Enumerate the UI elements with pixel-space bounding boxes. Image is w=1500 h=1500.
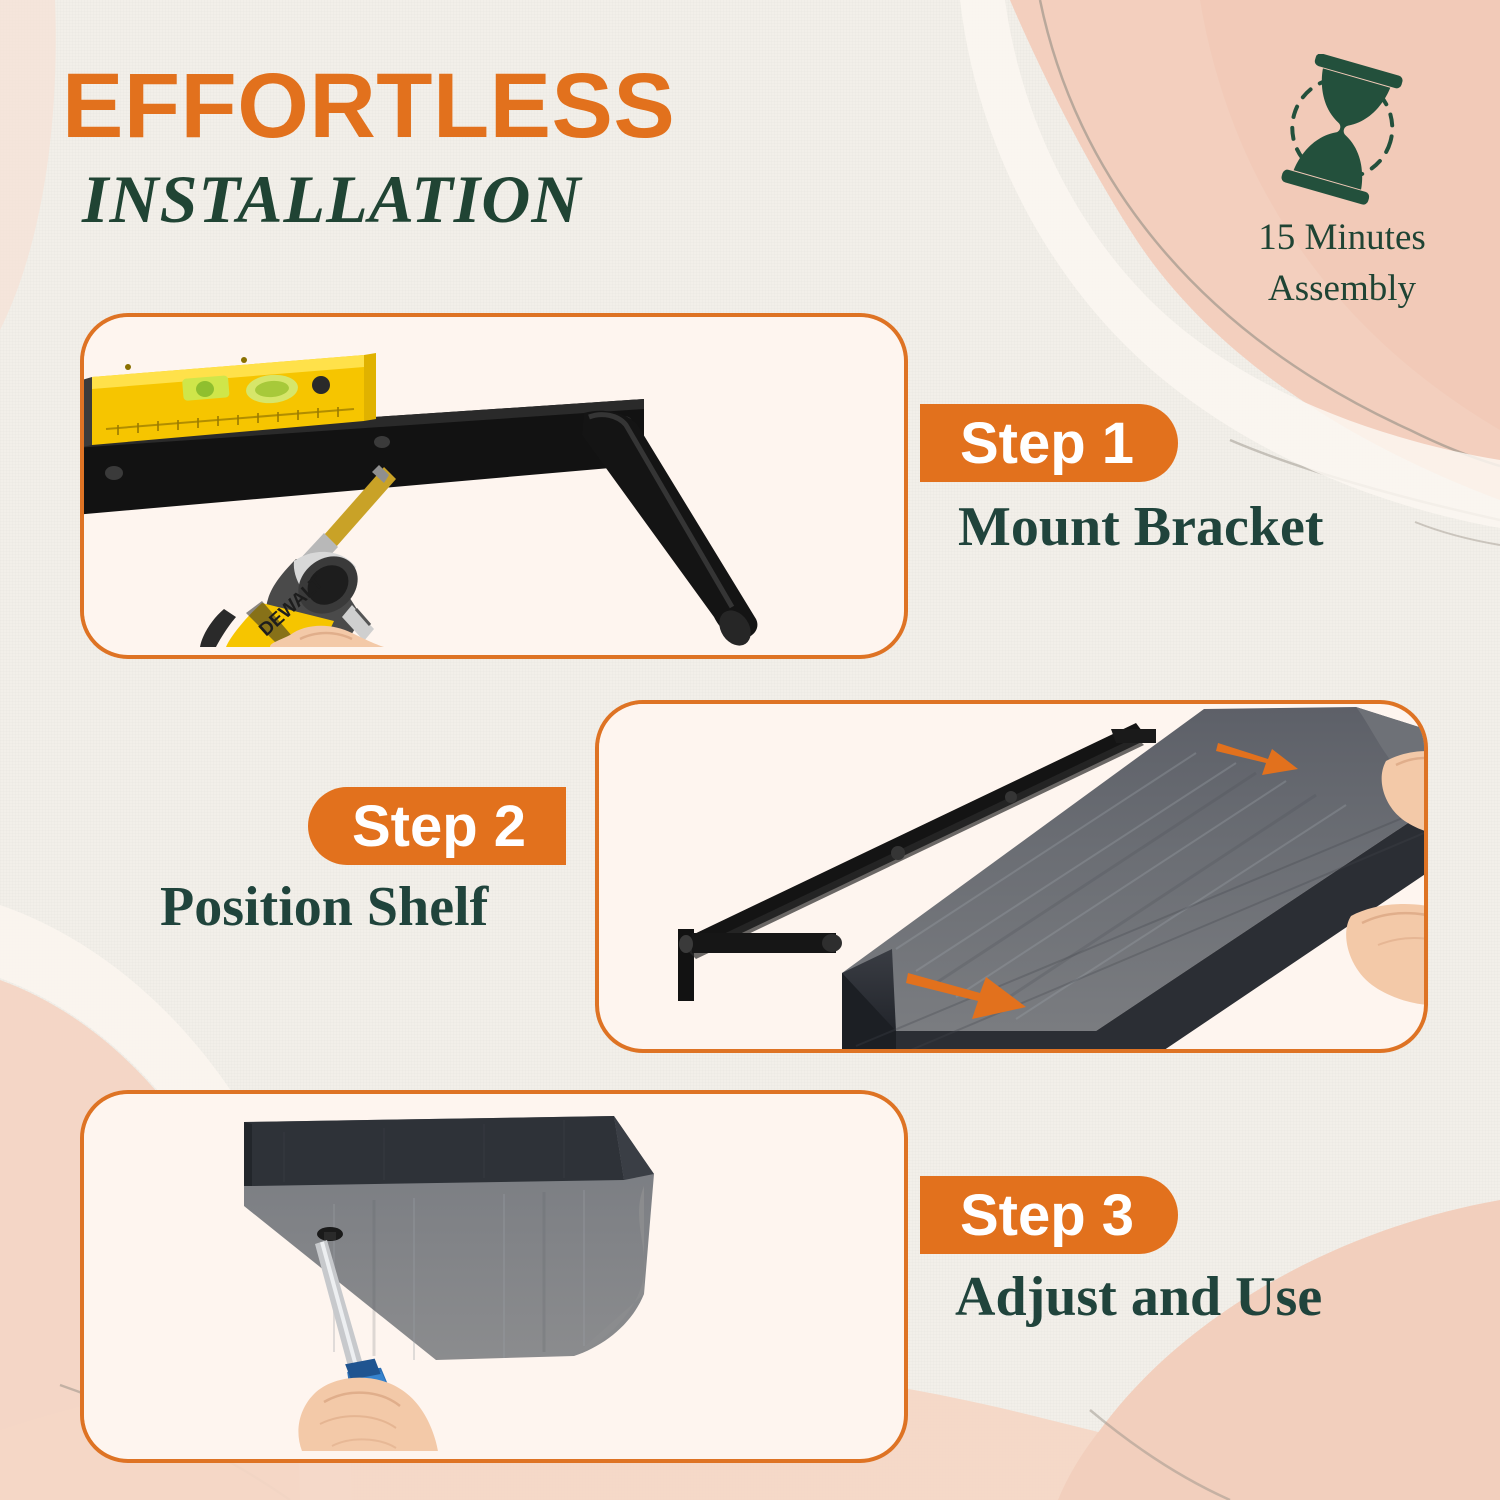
step-2-badge: Step 2: [308, 787, 566, 865]
step-3-badge: Step 3: [920, 1176, 1178, 1254]
assembly-time-badge: 15 Minutes Assembly: [1214, 54, 1470, 311]
hourglass-icon: [1267, 54, 1417, 209]
assembly-badge-line-1: 15 Minutes: [1214, 215, 1470, 260]
assembly-badge-line-2: Assembly: [1214, 266, 1470, 311]
step-2-badge-label: Step 2: [352, 793, 526, 860]
set-screw: [317, 1227, 343, 1241]
headline-line-1: EFFORTLESS: [62, 58, 675, 154]
blob-left-top: [0, 0, 56, 330]
page-title: EFFORTLESS INSTALLATION: [62, 58, 675, 240]
step-3-photo: [84, 1094, 896, 1451]
step-3-label: Adjust and Use: [955, 1265, 1322, 1329]
headline-line-2: INSTALLATION: [82, 158, 675, 240]
thin-curve-right-mid: [1415, 522, 1500, 545]
step-3-image-card: [80, 1090, 908, 1463]
step-2-label: Position Shelf: [160, 875, 488, 939]
step-1-label: Mount Bracket: [958, 495, 1324, 559]
step-1-badge-label: Step 1: [960, 410, 1134, 477]
step-1-badge: Step 1: [920, 404, 1178, 482]
step-2-photo: [596, 701, 1421, 1046]
step-1-photo: DEWALT: [84, 317, 896, 647]
step-1-image-card: DEWALT: [80, 313, 908, 659]
step-2-image-card: [595, 700, 1428, 1053]
thin-curve-bottom-right: [1090, 1410, 1230, 1500]
infographic-canvas: EFFORTLESS INSTALLATION 15 Minutes Assem…: [0, 0, 1500, 1500]
step-3-badge-label: Step 3: [960, 1182, 1134, 1249]
